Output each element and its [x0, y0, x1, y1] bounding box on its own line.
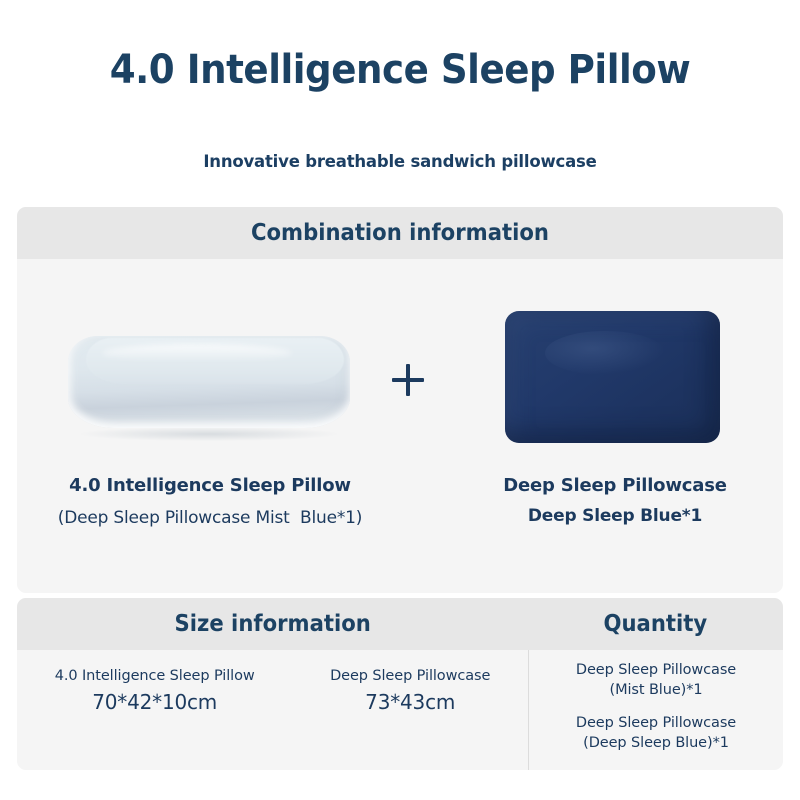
quantity-variant-mist-blue: (Mist Blue)*1 — [529, 680, 783, 700]
product-name-pillow: 4.0 Intelligence Sleep Pillow — [20, 473, 400, 499]
pillowcase-highlight — [545, 331, 665, 375]
pillow-shadow — [80, 427, 338, 441]
combination-band-title: Combination information — [251, 220, 549, 246]
quantity-band-cell: Quantity — [528, 598, 783, 650]
pillowcase-body — [505, 311, 720, 443]
size-information-section: 4.0 Intelligence Sleep Pillow 70*42*10cm… — [17, 650, 528, 770]
details-body: 4.0 Intelligence Sleep Pillow 70*42*10cm… — [17, 650, 783, 770]
quantity-band-title: Quantity — [604, 611, 708, 637]
pillow-body — [68, 336, 350, 428]
size-row-pillowcase: Deep Sleep Pillowcase 73*43cm — [330, 668, 490, 714]
page-subtitle: Innovative breathable sandwich pillowcas… — [12, 152, 788, 172]
plus-icon — [392, 364, 424, 396]
size-value-pillow: 70*42*10cm — [55, 690, 255, 714]
foam-pillow-image — [58, 320, 358, 445]
size-name-pillowcase: Deep Sleep Pillowcase — [330, 668, 490, 684]
quantity-name-mist-blue: Deep Sleep Pillowcase — [529, 660, 783, 680]
combination-band: Combination information — [17, 207, 783, 259]
product-label-pillowcase: Deep Sleep Pillowcase Deep Sleep Blue*1 — [470, 473, 760, 529]
page-title: 4.0 Intelligence Sleep Pillow — [28, 48, 772, 92]
size-information-band-cell: Size information — [17, 598, 528, 650]
size-information-band-title: Size information — [174, 611, 370, 637]
size-row-pillow: 4.0 Intelligence Sleep Pillow 70*42*10cm — [55, 668, 255, 714]
product-variant-pillowcase: Deep Sleep Blue*1 — [470, 504, 760, 529]
product-variant-pillow: (Deep Sleep Pillowcase Mist Blue*1) — [20, 506, 400, 531]
pillowcase-image — [488, 305, 738, 455]
quantity-row-deep-sleep-blue: Deep Sleep Pillowcase (Deep Sleep Blue)*… — [529, 713, 783, 753]
quantity-section: Deep Sleep Pillowcase (Mist Blue)*1 Deep… — [529, 650, 783, 770]
product-name-pillowcase: Deep Sleep Pillowcase — [470, 473, 760, 499]
size-name-pillow: 4.0 Intelligence Sleep Pillow — [55, 668, 255, 684]
details-band: Size information Quantity — [17, 598, 783, 650]
pillow-highlight — [102, 344, 292, 362]
product-label-pillow: 4.0 Intelligence Sleep Pillow (Deep Slee… — [20, 473, 400, 531]
product-spec-page: { "header": { "title": "4.0 Intelligence… — [0, 0, 800, 800]
details-card: Size information Quantity 4.0 Intelligen… — [17, 598, 783, 770]
quantity-row-mist-blue: Deep Sleep Pillowcase (Mist Blue)*1 — [529, 660, 783, 700]
quantity-variant-deep-sleep-blue: (Deep Sleep Blue)*1 — [529, 733, 783, 753]
size-value-pillowcase: 73*43cm — [330, 690, 490, 714]
quantity-name-deep-sleep-blue: Deep Sleep Pillowcase — [529, 713, 783, 733]
